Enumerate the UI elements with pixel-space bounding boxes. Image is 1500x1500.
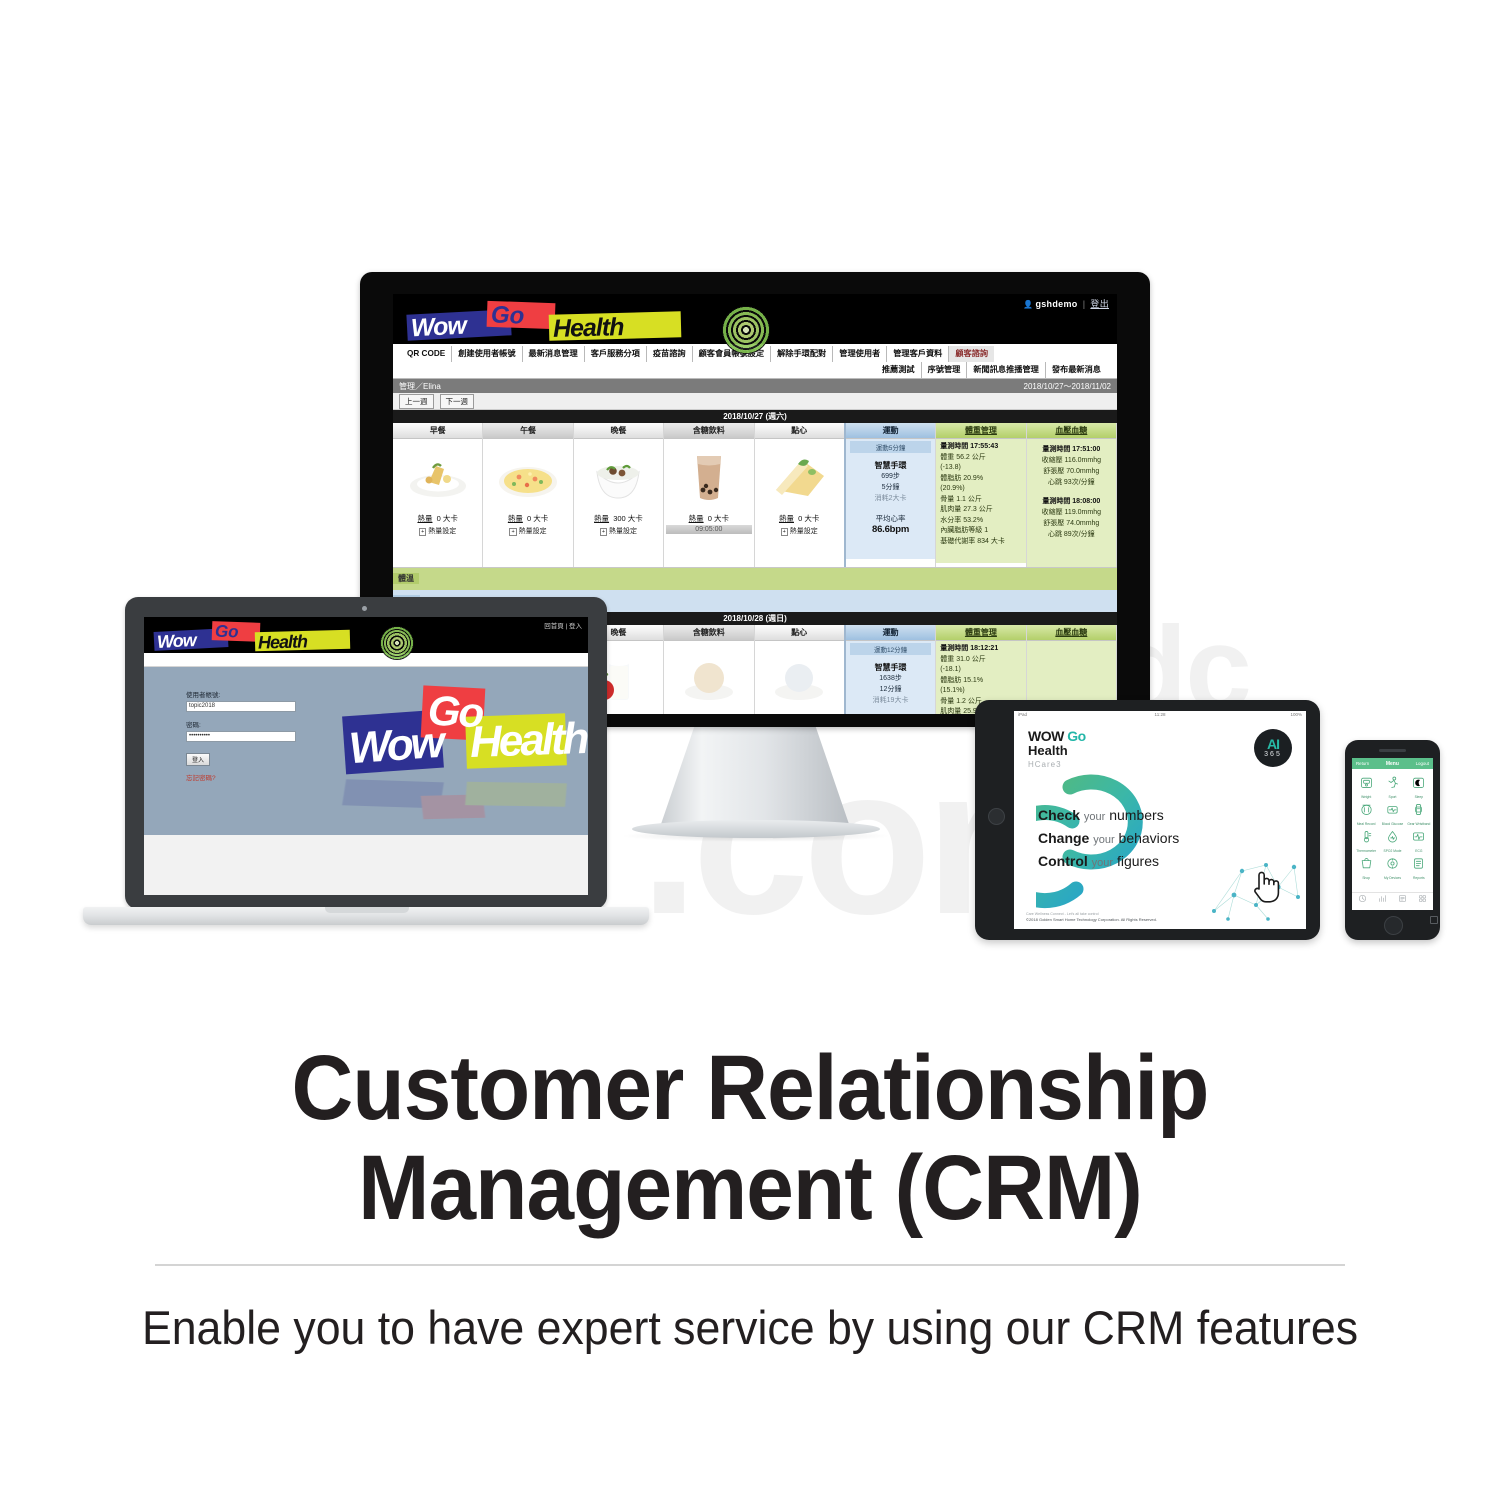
phone-tab-label: News xyxy=(1393,909,1413,911)
body-metric-row: (20.9%) xyxy=(940,484,1021,495)
bp-reading-line: 心跳 89次/分鐘 xyxy=(1029,529,1114,540)
bp-reading-line: 收縮壓 119.0mmhg xyxy=(1029,507,1114,518)
phone-tab[interactable]: News xyxy=(1393,891,1413,911)
nav-item-1[interactable]: QR CODE xyxy=(401,346,452,362)
bp-reading-line: 舒張壓 74.0mmhg xyxy=(1029,518,1114,529)
sleep-icon xyxy=(1412,776,1425,789)
password-input[interactable]: •••••••••• xyxy=(186,731,296,742)
body-metric-row: 水分率 53.2% xyxy=(940,516,1021,527)
login-form: 使用者帳號: topic2018 密碼: •••••••••• 登入 忘記密碼? xyxy=(186,689,346,782)
nav-item-5[interactable]: 疫苗諮詢 xyxy=(647,346,693,362)
thermometer-icon xyxy=(1360,830,1373,843)
bp-reading-line: 收縮壓 116.0mmhg xyxy=(1029,455,1114,466)
phone-back-button[interactable]: Return xyxy=(1356,761,1369,766)
body-metric-row: 內臟脂肪等級 1 xyxy=(940,526,1021,537)
bp-cell: 量測時間 17:51:00收縮壓 116.0mmhg舒張壓 70.0mmhg心跳… xyxy=(1027,439,1116,567)
meal-column: 晚餐熱量 300 大卡+熱量設定 xyxy=(574,423,664,567)
calorie-setting-button[interactable]: +熱量設定 xyxy=(574,525,663,539)
nav-item-4[interactable]: 發布最新消息 xyxy=(1046,362,1107,378)
user-bar: 👤gshdemo|登出 xyxy=(1023,297,1109,310)
phone-menu-label: Weight xyxy=(1353,795,1379,799)
laptop-subnav-bar xyxy=(144,653,588,667)
prev-week-button[interactable]: 上一週 xyxy=(399,394,434,409)
news-icon xyxy=(1398,894,1407,903)
phone-tab-label: History xyxy=(1352,909,1372,911)
laptop-site-header: Wow Go Health 回首頁 | 登入 xyxy=(144,617,588,653)
tagline-3-bold: Control xyxy=(1038,853,1088,869)
nav-row-secondary: 推薦測試序號管理新聞訊息推播管理發布最新消息 xyxy=(393,362,1117,378)
activity-device: 智慧手環 xyxy=(846,460,935,471)
tablet-splash: WOW Go Health HCare3 AI 365 xyxy=(1014,719,1306,929)
hand-pointer-icon xyxy=(1250,869,1280,903)
phone-menu-item[interactable]: Reports xyxy=(1406,854,1432,881)
laptop-page-body xyxy=(144,835,588,895)
laptop-user-bar[interactable]: 回首頁 | 登入 xyxy=(544,620,582,630)
meal-column: 含糖飲料熱量 0 大卡 xyxy=(664,625,754,714)
big-logo-reflection xyxy=(344,801,566,820)
body-metric-row: 骨量 1.1 公斤 xyxy=(940,495,1021,506)
meal-time-chip: 09:05:00 xyxy=(666,525,751,534)
footer-line-2: ©2018 Golden Smart Home Technology Corpo… xyxy=(1026,917,1157,923)
date-range-label: 2018/10/27～2018/11/02 xyxy=(1024,381,1111,392)
tablet-status-bar: iPad 11:28 100% xyxy=(1014,711,1306,719)
logo-text-wow: Wow xyxy=(410,312,466,344)
logo-text-go: Go xyxy=(491,301,525,330)
password-label: 密碼: xyxy=(186,719,346,729)
monitor-stand-neck xyxy=(660,727,850,827)
laptop-target-rings-icon xyxy=(380,626,414,660)
meal-column-header: 早餐 xyxy=(393,423,482,439)
nav-item-9[interactable]: 管理客戶資料 xyxy=(887,346,949,362)
phone-menu-label: Reports xyxy=(1406,876,1432,880)
laptop-hinge-notch xyxy=(325,907,409,913)
activity-header: 運動 xyxy=(846,625,935,641)
phone-nav-bar: Return Menu Logout xyxy=(1352,758,1433,769)
bp-header: 血壓血糖 xyxy=(1027,423,1116,439)
tagline-row-1: Check your numbers xyxy=(1038,805,1196,828)
blood-oxygen-icon xyxy=(1386,830,1399,843)
ai365-badge: AI 365 xyxy=(1254,729,1292,767)
metric-strip: 體溫 xyxy=(393,568,1117,590)
body-metric-row: (15.1%) xyxy=(940,686,1021,697)
username-label: 使用者帳號: xyxy=(186,689,346,699)
meal-column: 含糖飲料熱量 0 大卡09:05:00 xyxy=(664,423,754,567)
tablet-brand-health: Health xyxy=(1028,744,1086,758)
activity-chip: 運動5分鐘 xyxy=(850,441,931,453)
page-subtitle: Enable you to have expert service by usi… xyxy=(38,1266,1463,1356)
breadcrumb: 管理／Elina 2018/10/27～2018/11/02 xyxy=(393,379,1117,393)
tablet-footer: Care Wellness Connect - Let's all take c… xyxy=(1026,911,1157,923)
activity-cell: 運動12分鐘智慧手環1638步12分鐘消耗19大卡平均心率 xyxy=(846,641,935,714)
nav-item-8[interactable]: 管理使用者 xyxy=(833,346,887,362)
phone-tab[interactable]: History xyxy=(1352,891,1372,911)
nav-item-3[interactable]: 最新消息管理 xyxy=(523,346,585,362)
phone-menu-label: Sleep xyxy=(1406,795,1432,799)
calorie-row: 熱量 0 大卡 xyxy=(664,713,753,714)
bp-reading: 量測時間 17:51:00收縮壓 116.0mmhg舒張壓 70.0mmhg心跳… xyxy=(1029,444,1114,488)
login-submit-button[interactable]: 登入 xyxy=(186,753,210,766)
phone-menu-item[interactable]: Blood Glucose xyxy=(1379,800,1405,827)
calorie-setting-button[interactable]: +熱量設定 xyxy=(755,525,844,539)
monitor-stand-base xyxy=(632,820,880,838)
phone-tab[interactable]: More xyxy=(1413,891,1433,911)
caption-block: Customer Relationship Management (CRM) E… xyxy=(0,1010,1500,1356)
body-metric-row: 體重 56.2 公斤 xyxy=(940,453,1021,464)
phone-menu-label: Blood Glucose xyxy=(1379,822,1405,826)
phone-menu-label: SPO2 Mode xyxy=(1379,849,1405,853)
laptop-logo-wow: Wow xyxy=(156,630,196,653)
week-pager: 上一週 下一週 xyxy=(393,393,1117,410)
status-battery: 100% xyxy=(1290,711,1302,719)
bp-reading-line: 心跳 93次/分鐘 xyxy=(1029,477,1114,488)
bp-reading-line: 量測時間 18:08:00 xyxy=(1029,496,1114,507)
body-metric-row: 體脂肪 15.1% xyxy=(940,676,1021,687)
userbar-divider: | xyxy=(1083,299,1086,309)
calorie-setting-button[interactable]: +熱量設定 xyxy=(483,525,572,539)
nav-item-4[interactable]: 客戶服務分項 xyxy=(585,346,647,362)
calorie-setting-button[interactable]: +熱量設定 xyxy=(393,525,482,539)
phone-menu-label: My Devices xyxy=(1379,876,1405,880)
blood-pressure-column: 血壓血糖量測時間 17:51:00收縮壓 116.0mmhg舒張壓 70.0mm… xyxy=(1027,423,1117,567)
heart-rate-value: 86.6bpm xyxy=(846,524,935,535)
tagline-1-rest: numbers xyxy=(1109,807,1163,823)
next-week-button[interactable]: 下一週 xyxy=(440,394,475,409)
meal-column: 點心熱量 0 大卡 xyxy=(755,625,846,714)
phone-menu-label: Shop xyxy=(1353,876,1379,880)
activity-steps: 1638步 xyxy=(846,673,935,684)
tagline-row-3: Control your figures xyxy=(1038,851,1196,874)
laptop-device: Wow Go Health 回首頁 | 登入 使用者帳號: topic2018 … xyxy=(125,597,607,927)
calorie-row: 熱量 0 大卡 xyxy=(755,511,844,525)
forgot-password-link[interactable]: 忘記密碼? xyxy=(186,772,346,782)
ai-badge-label: AI xyxy=(1267,738,1279,751)
chart-icon xyxy=(1378,894,1387,903)
smartphone-device: Return Menu Logout WeightSportSleepMeal … xyxy=(1345,740,1440,940)
laptop-logo-go: Go xyxy=(215,622,239,643)
activity-minutes: 5分鐘 xyxy=(846,482,935,493)
bp-header: 血壓血糖 xyxy=(1027,625,1116,641)
status-clock: 11:28 xyxy=(1155,711,1166,719)
metric-strip-label: 體溫 xyxy=(393,573,419,584)
phone-tab-bar: HistoryChartsNewsMore xyxy=(1352,892,1433,910)
phone-menu-item[interactable]: Sleep xyxy=(1406,773,1432,800)
laptop-screen: Wow Go Health 回首頁 | 登入 使用者帳號: topic2018 … xyxy=(144,617,588,895)
login-brand-artwork: Wow Go Health xyxy=(344,685,566,805)
activity-device: 智慧手環 xyxy=(846,662,935,673)
phone-menu-item[interactable]: Gear Wristband xyxy=(1406,800,1432,827)
username-input[interactable]: topic2018 xyxy=(186,701,296,712)
body-cell: 量測時間 17:55:43體重 56.2 公斤(-13.8)體脂肪 20.9%(… xyxy=(936,439,1025,563)
phone-menu-item[interactable]: Shop xyxy=(1353,854,1379,881)
user-icon: 👤 xyxy=(1023,300,1033,309)
big-logo-health: Health xyxy=(469,714,587,768)
phone-screen: Return Menu Logout WeightSportSleepMeal … xyxy=(1352,758,1433,910)
phone-menu-item[interactable]: Thermometer xyxy=(1353,827,1379,854)
phone-menu-label: Meal Record xyxy=(1353,822,1379,826)
meal-photo xyxy=(755,439,844,511)
phone-menu-item[interactable]: Sport xyxy=(1379,773,1405,800)
blood-pressure-icon xyxy=(1386,803,1399,816)
laptop-lid: Wow Go Health 回首頁 | 登入 使用者帳號: topic2018 … xyxy=(125,597,607,909)
nav-item-7[interactable]: 解除手環配對 xyxy=(771,346,833,362)
activity-calories: 消耗2大卡 xyxy=(846,493,935,504)
phone-menu-label: Gear Wristband xyxy=(1406,822,1432,826)
calorie-row: 熱量 0 大卡 xyxy=(755,713,844,714)
site-header: Wow Go Health 👤gshdemo|登出 xyxy=(393,294,1117,344)
reports-icon xyxy=(1412,857,1425,870)
calorie-row: 熱量 0 大卡 xyxy=(393,511,482,525)
heart-rate-block: 平均心率86.6bpm xyxy=(846,513,935,535)
phone-menu-item[interactable]: Meal Record xyxy=(1353,800,1379,827)
activity-steps: 699步 xyxy=(846,471,935,482)
phone-menu-label: Thermometer xyxy=(1353,849,1379,853)
activity-column: 運動運動5分鐘智慧手環699步5分鐘消耗2大卡平均心率86.6bpm xyxy=(846,423,936,567)
heart-rate-label: 平均心率 xyxy=(846,513,935,524)
body-metric-row: 基礎代謝率 834 大卡 xyxy=(940,537,1021,548)
body-metric-row: 量測時間 17:55:43 xyxy=(940,442,1021,453)
logout-link[interactable]: 登出 xyxy=(1090,299,1109,309)
ai-badge-number: 365 xyxy=(1264,751,1282,759)
status-carrier: iPad xyxy=(1018,711,1027,719)
activity-column: 運動運動12分鐘智慧手環1638步12分鐘消耗19大卡平均心率 xyxy=(846,625,936,714)
phone-tab[interactable]: Charts xyxy=(1372,891,1392,911)
tagline-3-rest: figures xyxy=(1117,853,1159,869)
calorie-row: 熱量 0 大卡 xyxy=(664,511,753,525)
activity-details: 智慧手環699步5分鐘消耗2大卡 xyxy=(846,460,935,504)
body-metric-row: 體重 31.0 公斤 xyxy=(940,655,1021,666)
phone-menu-item[interactable]: SPO2 Mode xyxy=(1379,827,1405,854)
phone-menu-item[interactable]: ECG xyxy=(1406,827,1432,854)
activity-chip: 運動12分鐘 xyxy=(850,643,931,655)
day-header: 2018/10/27 (週六) xyxy=(393,410,1117,423)
meal-photo xyxy=(664,439,753,511)
shop-icon xyxy=(1360,857,1373,870)
body-header: 體重管理 xyxy=(936,625,1025,641)
body-metric-row: 量測時間 18:12:21 xyxy=(940,644,1021,655)
login-panel: 使用者帳號: topic2018 密碼: •••••••••• 登入 忘記密碼?… xyxy=(144,667,588,835)
tagline-2-rest: behaviors xyxy=(1119,830,1180,846)
page-title: Customer Relationship Management (CRM) xyxy=(53,1010,1448,1238)
meal-photo xyxy=(483,439,572,511)
nav-item-1[interactable]: 推薦測試 xyxy=(876,362,922,378)
my-device-icon xyxy=(1386,857,1399,870)
tablet-screen: iPad 11:28 100% WOW Go Health HCare3 AI … xyxy=(1014,711,1306,929)
laptop-logo: Wow Go Health xyxy=(154,624,364,650)
meal-column-header: 午餐 xyxy=(483,423,572,439)
bp-reading-line: 量測時間 17:51:00 xyxy=(1029,444,1114,455)
meal-column-header: 含糖飲料 xyxy=(664,625,753,641)
meal-column-header: 晚餐 xyxy=(574,423,663,439)
tablet-home-button[interactable] xyxy=(988,808,1005,825)
laptop-logo-health: Health xyxy=(258,631,308,653)
nav-item-2[interactable]: 序號管理 xyxy=(922,362,968,378)
meal-column-header: 點心 xyxy=(755,625,844,641)
meal-column: 點心熱量 0 大卡+熱量設定 xyxy=(755,423,846,567)
device-mockup-scene: Wow Go Health 👤gshdemo|登出 QR CODE創建使用者帳號… xyxy=(0,0,1500,1010)
meal-photo xyxy=(393,439,482,511)
tagline-2-light: your xyxy=(1093,834,1114,846)
wowgohealth-logo: Wow Go Health xyxy=(407,304,697,342)
body-header: 體重管理 xyxy=(936,423,1025,439)
meal-record-icon xyxy=(1360,803,1373,816)
phone-menu-item[interactable]: Weight xyxy=(1353,773,1379,800)
phone-home-button[interactable] xyxy=(1384,916,1403,935)
bp-reading-line: 舒張壓 70.0mmhg xyxy=(1029,466,1114,477)
activity-minutes: 12分鐘 xyxy=(846,684,935,695)
body-management-column: 體重管理量測時間 17:55:43體重 56.2 公斤(-13.8)體脂肪 20… xyxy=(936,423,1026,567)
body-metric-row: (-13.8) xyxy=(940,463,1021,474)
activity-cell: 運動5分鐘智慧手環699步5分鐘消耗2大卡平均心率86.6bpm xyxy=(846,439,935,559)
body-metric-row: 體脂肪 20.9% xyxy=(940,474,1021,485)
history-icon xyxy=(1358,894,1367,903)
laptop-camera-icon xyxy=(362,606,367,611)
phone-logout-button[interactable]: Logout xyxy=(1416,761,1429,766)
phone-menu-grid: WeightSportSleepMeal RecordBlood Glucose… xyxy=(1352,769,1433,881)
nav-item-2[interactable]: 創建使用者帳號 xyxy=(452,346,522,362)
nav-item-3[interactable]: 新聞訊息推播管理 xyxy=(967,362,1046,378)
meal-column: 早餐熱量 0 大卡+熱量設定 xyxy=(393,423,483,567)
phone-menu-label: ECG xyxy=(1406,849,1432,853)
tablet-brand-wowgo: WOW Go xyxy=(1028,729,1086,744)
calorie-row: 熱量 300 大卡 xyxy=(574,511,663,525)
tagline-block: Check your numbers Change your behaviors… xyxy=(1038,805,1196,874)
meal-photo xyxy=(664,641,753,713)
activity-header: 運動 xyxy=(846,423,935,439)
activity-calories: 消耗19大卡 xyxy=(846,695,935,706)
logo-text-health: Health xyxy=(553,313,624,344)
username-label: gshdemo xyxy=(1035,299,1077,309)
bp-reading: 量測時間 18:08:00收縮壓 119.0mmhg舒張壓 74.0mmhg心跳… xyxy=(1029,496,1114,540)
tagline-row-2: Change your behaviors xyxy=(1038,828,1196,851)
phone-tab-label: Charts xyxy=(1372,909,1392,911)
ecg-icon xyxy=(1412,830,1425,843)
tablet-brand-go: Go xyxy=(1067,728,1085,744)
body-metric-row: (-18.1) xyxy=(940,665,1021,676)
tagline-3-light: your xyxy=(1092,857,1113,869)
more-icon xyxy=(1418,894,1427,903)
body-metric-row: 肌肉量 27.3 公斤 xyxy=(940,505,1021,516)
phone-speaker-icon xyxy=(1379,749,1406,752)
nav-item-10[interactable]: 顧客諮詢 xyxy=(949,346,994,362)
sport-icon xyxy=(1386,776,1399,789)
day-grid: 早餐熱量 0 大卡+熱量設定午餐熱量 0 大卡+熱量設定晚餐熱量 300 大卡+… xyxy=(393,423,1117,568)
calorie-row: 熱量 0 大卡 xyxy=(483,511,572,525)
tagline-1-bold: Check xyxy=(1038,807,1080,823)
tagline-1-light: your xyxy=(1084,811,1105,823)
target-rings-icon xyxy=(722,306,770,354)
phone-menu-item[interactable]: My Devices xyxy=(1379,854,1405,881)
meal-photo xyxy=(755,641,844,713)
meal-column-header: 點心 xyxy=(755,423,844,439)
tagline-2-bold: Change xyxy=(1038,830,1089,846)
phone-menu-label: Sport xyxy=(1379,795,1405,799)
meal-photo xyxy=(574,439,663,511)
weight-scale-icon xyxy=(1360,776,1373,789)
meal-column: 午餐熱量 0 大卡+熱量設定 xyxy=(483,423,573,567)
meal-column-header: 含糖飲料 xyxy=(664,423,753,439)
breadcrumb-text: 管理／Elina xyxy=(399,381,441,392)
tablet-device: iPad 11:28 100% WOW Go Health HCare3 AI … xyxy=(975,700,1320,940)
wristband-icon xyxy=(1412,803,1425,816)
phone-tab-label: More xyxy=(1413,909,1433,911)
activity-details: 智慧手環1638步12分鐘消耗19大卡 xyxy=(846,662,935,706)
phone-title: Menu xyxy=(1386,761,1399,767)
